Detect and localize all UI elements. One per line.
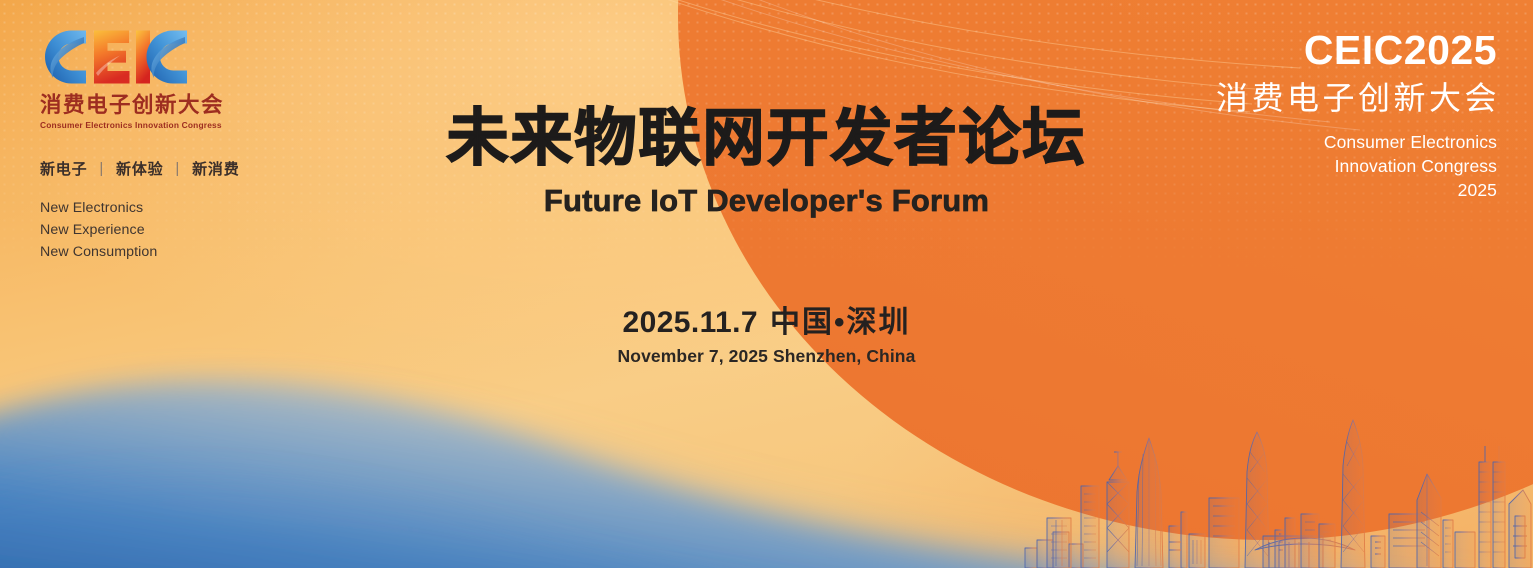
logo-english-name: Consumer Electronics Innovation Congress bbox=[40, 120, 224, 130]
congress-english-name: Consumer Electronics Innovation Congress… bbox=[1216, 130, 1497, 202]
ceic-logo-mark bbox=[40, 28, 192, 86]
date-english: November 7, 2025 Shenzhen, China bbox=[0, 344, 1533, 368]
slogan-cn-part-3: 新消费 bbox=[192, 161, 239, 178]
congress-en-line-1: Consumer Electronics bbox=[1216, 130, 1497, 154]
congress-en-line-2: Innovation Congress bbox=[1216, 154, 1497, 178]
slogan-separator-2: | bbox=[168, 160, 187, 177]
slogan-separator-1: | bbox=[92, 160, 111, 177]
location-chinese: 中国•深圳 bbox=[770, 306, 911, 339]
slogan-en-line-2: New Experience bbox=[40, 219, 240, 241]
congress-title: CEIC2025 bbox=[1216, 24, 1497, 76]
slogan-en-line-1: New Electronics bbox=[40, 197, 240, 219]
event-banner: 消费电子创新大会 Consumer Electronics Innovation… bbox=[0, 0, 1533, 568]
date-value: 2025.11.7 bbox=[623, 306, 758, 339]
ceic-logo[interactable]: 消费电子创新大会 Consumer Electronics Innovation… bbox=[40, 28, 224, 130]
congress-en-line-3: 2025 bbox=[1216, 178, 1497, 202]
slogan-chinese: 新电子 | 新体验 | 新消费 bbox=[40, 158, 240, 179]
date-location-block: 2025.11.7中国•深圳 November 7, 2025 Shenzhen… bbox=[0, 303, 1533, 368]
slogan-block: 新电子 | 新体验 | 新消费 New Electronics New Expe… bbox=[40, 158, 240, 263]
congress-block: CEIC2025 消费电子创新大会 Consumer Electronics I… bbox=[1216, 24, 1497, 202]
slogan-cn-part-1: 新电子 bbox=[40, 161, 87, 178]
logo-chinese-name: 消费电子创新大会 bbox=[40, 88, 224, 119]
date-chinese: 2025.11.7中国•深圳 bbox=[0, 303, 1533, 343]
congress-chinese-name: 消费电子创新大会 bbox=[1216, 76, 1500, 120]
slogan-cn-part-2: 新体验 bbox=[116, 161, 163, 178]
shenzhen-skyline-silhouette bbox=[1023, 408, 1533, 568]
slogan-en-line-3: New Consumption bbox=[40, 241, 240, 263]
